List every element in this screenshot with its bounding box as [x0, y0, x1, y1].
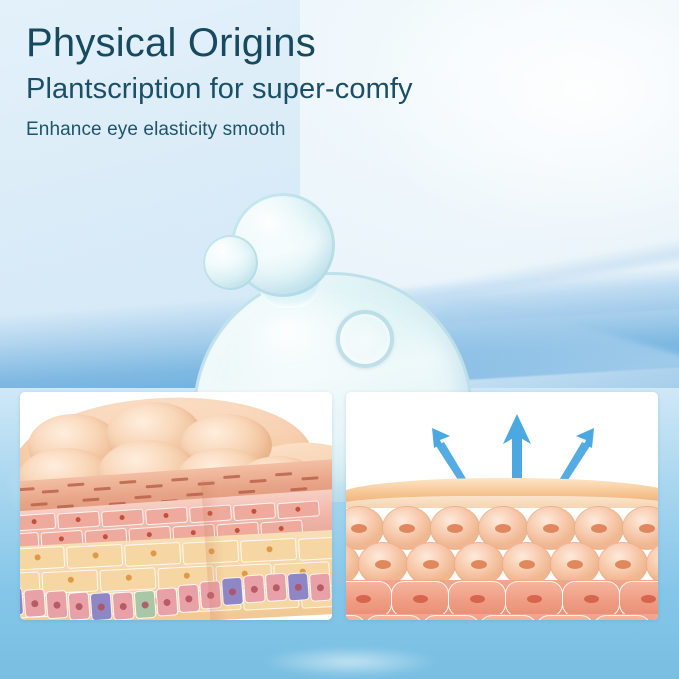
rect-cell — [536, 615, 594, 620]
rect-cell-row — [346, 581, 658, 617]
rect-cell — [448, 581, 506, 617]
rect-cell — [562, 581, 620, 617]
inner-ring-bubble — [336, 310, 394, 368]
rect-cell — [365, 615, 423, 620]
rect-cell — [593, 615, 651, 620]
page-subtitle: Plantscription for super-comfy — [26, 72, 646, 107]
rect-cell — [346, 581, 392, 617]
header-text-block: Physical Origins Plantscription for supe… — [26, 20, 646, 142]
promo-banner: Physical Origins Plantscription for supe… — [0, 0, 679, 679]
panel-skin-cell-layers — [346, 392, 658, 620]
rect-cell — [505, 581, 563, 617]
rect-cell — [391, 581, 449, 617]
skin-diagram-left — [20, 392, 332, 620]
rect-cell-row — [346, 615, 652, 620]
arrow-up-icon — [501, 414, 533, 486]
panel-skin-cross-section — [20, 392, 332, 620]
rect-cell — [422, 615, 480, 620]
page-title: Physical Origins — [26, 20, 646, 66]
page-tagline: Enhance eye elasticity smooth — [26, 119, 646, 142]
arrow-up-right-icon — [552, 420, 598, 486]
arrow-up-left-icon — [428, 420, 474, 486]
rect-cell — [479, 615, 537, 620]
rect-cell — [346, 615, 366, 620]
water-ripple — [225, 640, 475, 679]
small-round-bubble — [203, 235, 258, 290]
rect-cell — [619, 581, 658, 617]
